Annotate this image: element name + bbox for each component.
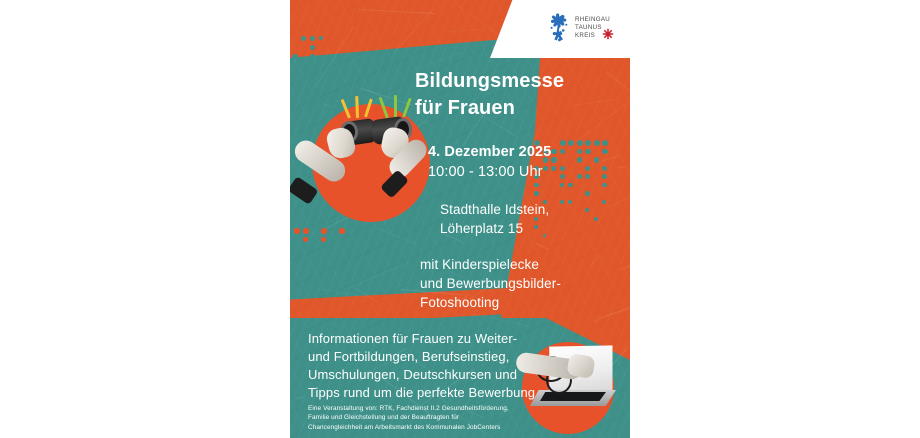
mainzer-rad-wheel-icon <box>602 27 614 39</box>
event-poster: RHEINGAU TAUNUS KREIS <box>290 0 630 438</box>
ray-icon <box>355 96 359 118</box>
ray-icon <box>341 99 351 119</box>
ray-icon <box>402 98 412 118</box>
credits-line-3: Chancengleichheit am Arbeitsmarkt des Ko… <box>308 423 543 432</box>
credits-line-1: Eine Veranstaltung von: RTK, Fachdienst … <box>308 404 543 413</box>
info-line-4: Tipps rund um die perfekte Bewerbung <box>308 384 548 402</box>
event-information: Informationen für Frauen zu Weiter- und … <box>308 330 548 402</box>
event-date: 4. Dezember 2025 <box>428 143 618 162</box>
title-line-1: Bildungsmesse <box>415 68 615 95</box>
info-line-2: und Fortbildungen, Berufseinstieg, <box>308 348 548 366</box>
lion-crest-icon <box>548 13 572 43</box>
ray-icon <box>379 97 389 119</box>
ray-icon <box>364 98 373 117</box>
logo-line-rheingau: RHEINGAU <box>575 16 610 24</box>
ray-icon <box>394 95 397 119</box>
laptop-keyboard <box>540 392 606 401</box>
extras-line-3: Fotoshooting <box>420 293 620 312</box>
title-line-2: für Frauen <box>415 95 615 122</box>
event-time: 10:00 - 13:00 Uhr <box>428 163 618 182</box>
info-line-3: Umschulungen, Deutschkursen und <box>308 366 548 384</box>
venue-line-1: Stadthalle Idstein, <box>440 200 620 219</box>
rheingau-taunus-kreis-logo: RHEINGAU TAUNUS KREIS <box>548 8 618 48</box>
organizer-credits: Eine Veranstaltung von: RTK, Fachdienst … <box>308 404 543 432</box>
reaching-hand <box>566 353 595 379</box>
extras-line-2: und Bewerbungsbilder- <box>420 274 620 293</box>
screenshot-canvas: RHEINGAU TAUNUS KREIS <box>0 0 920 438</box>
event-extras: mit Kinderspielecke und Bewerbungsbilder… <box>420 255 620 312</box>
poster-title: Bildungsmesse für Frauen <box>415 68 615 122</box>
event-venue: Stadthalle Idstein, Löherplatz 15 <box>440 200 620 238</box>
credits-line-2: Familie und Gleichstellung und der Beauf… <box>308 413 543 422</box>
extras-line-1: mit Kinderspielecke <box>420 255 620 274</box>
venue-line-2: Löherplatz 15 <box>440 219 620 238</box>
info-line-1: Informationen für Frauen zu Weiter- <box>308 330 548 348</box>
